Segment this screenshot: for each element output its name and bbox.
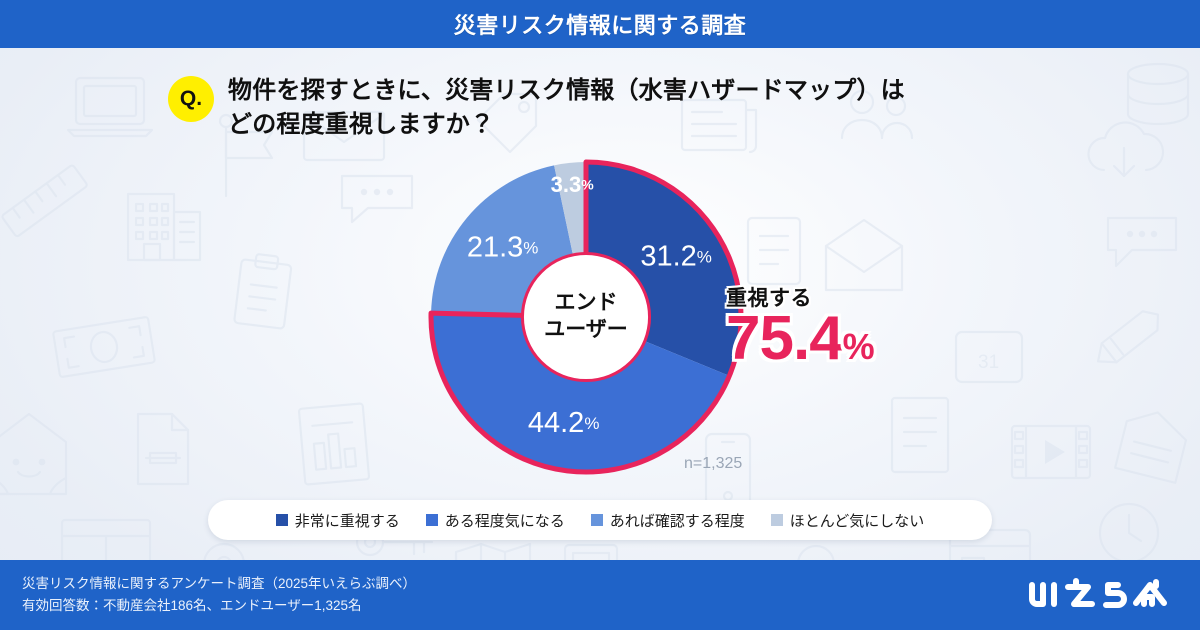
legend-label-1: 非常に重視する — [295, 510, 400, 531]
brand-logo[interactable] — [1024, 573, 1174, 617]
legend-item-4[interactable]: ほとんど気にしない — [771, 510, 925, 531]
legend-label-4: ほとんど気にしない — [790, 510, 925, 531]
legend-swatch-2 — [426, 514, 438, 526]
legend-swatch-1 — [276, 514, 288, 526]
legend-item-1[interactable]: 非常に重視する — [276, 510, 400, 531]
chart-legend: 非常に重視する ある程度気になる あれば確認する程度 ほとんど気にしない — [208, 500, 992, 540]
chat-dots-icon — [1100, 210, 1184, 272]
question-line-1: 物件を探すときに、災害リスク情報（水害ハザードマップ）は — [228, 74, 905, 108]
clock-icon — [1094, 498, 1164, 568]
chart-document-icon — [292, 397, 375, 491]
documents-icon — [1104, 399, 1199, 488]
callout-number: 75.4 — [726, 304, 843, 373]
laptop-icon — [62, 70, 158, 142]
donut-center-line-1: エンド — [555, 291, 618, 314]
question-badge: Q. — [168, 76, 214, 122]
pencil-icon — [1083, 296, 1174, 379]
legend-label-2: ある程度気になる — [445, 510, 565, 531]
highlight-callout: 重視する 75.4% — [726, 282, 874, 370]
header-bar: 災害リスク情報に関する調査 — [0, 0, 1200, 48]
calendar-icon: 31 — [952, 326, 1026, 386]
footer-line-1: 災害リスク情報に関するアンケート調査（2025年いえらぶ調べ） — [22, 573, 416, 595]
callout-unit: % — [843, 326, 874, 367]
house-mascot-icon — [0, 408, 74, 500]
document-icon — [132, 408, 194, 490]
legend-item-3[interactable]: あれば確認する程度 — [591, 510, 745, 531]
donut-center-line-2: ユーザー — [544, 318, 628, 341]
cloud-download-icon — [1082, 118, 1166, 184]
shopping-list-icon — [886, 392, 956, 478]
question-line-2: どの程度重視しますか？ — [228, 108, 905, 142]
footer-line-2: 有効回答数：不動産会社186名、エンドユーザー1,325名 — [22, 595, 416, 617]
question-text: 物件を探すときに、災害リスク情報（水害ハザードマップ）は どの程度重視しますか？ — [228, 74, 905, 142]
question-block: Q. 物件を探すときに、災害リスク情報（水害ハザードマップ）は どの程度重視しま… — [168, 74, 1068, 142]
banknote-icon — [48, 310, 160, 384]
callout-value: 75.4% — [726, 308, 874, 370]
svg-text:31: 31 — [978, 352, 999, 373]
building-icon — [122, 188, 206, 266]
ielove-logo-icon — [1024, 573, 1174, 617]
ruler-icon — [0, 154, 96, 246]
chat-bubble-icon — [334, 166, 420, 228]
database-icon — [1120, 60, 1196, 130]
footer-bar: 災害リスク情報に関するアンケート調査（2025年いえらぶ調べ） 有効回答数：不動… — [0, 560, 1200, 630]
sample-size-note: n=1,325 — [684, 455, 742, 473]
infographic-canvas: 31 災害リスク情報に — [0, 0, 1200, 630]
legend-label-3: あれば確認する程度 — [610, 510, 745, 531]
video-icon — [1008, 420, 1094, 484]
legend-swatch-3 — [591, 514, 603, 526]
legend-swatch-4 — [771, 514, 783, 526]
footer-text: 災害リスク情報に関するアンケート調査（2025年いえらぶ調べ） 有効回答数：不動… — [22, 573, 416, 618]
clipboard-icon — [227, 249, 298, 336]
page-title: 災害リスク情報に関する調査 — [454, 8, 747, 40]
legend-item-2[interactable]: ある程度気になる — [426, 510, 565, 531]
